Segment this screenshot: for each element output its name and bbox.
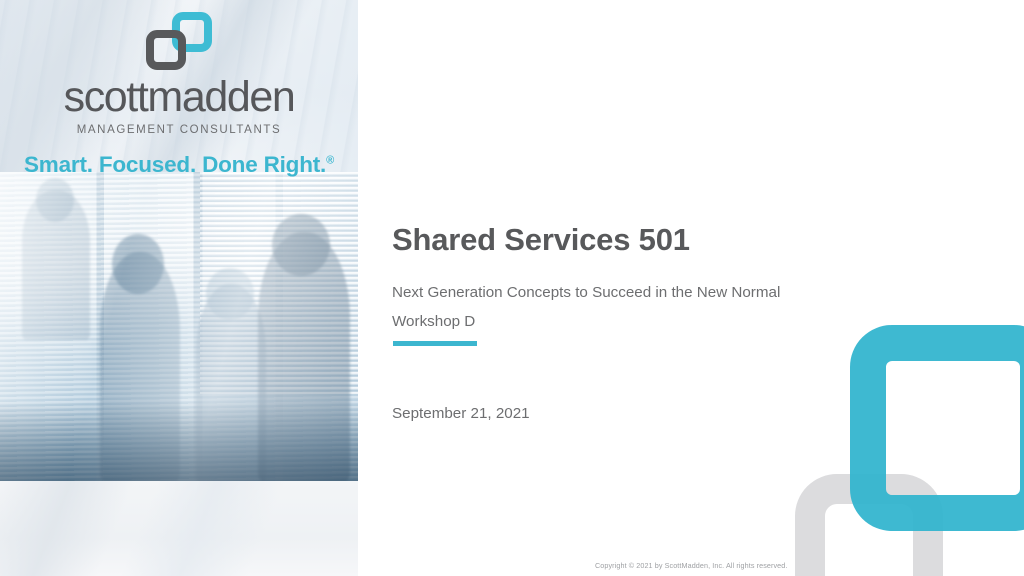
- logo-tagline: Smart. Focused. Done Right.®: [0, 152, 358, 178]
- panel-lower-wash: [0, 481, 358, 576]
- slide-date: September 21, 2021: [392, 405, 530, 422]
- teal-accent-bar: [393, 341, 477, 346]
- left-brand-panel: scottmadden MANAGEMENT CONSULTANTS Smart…: [0, 0, 358, 576]
- slide-content: Shared Services 501 Next Generation Conc…: [392, 0, 992, 576]
- photo-bottom-shadow: [0, 401, 358, 481]
- logo-tagline-text: Smart. Focused. Done Right.: [24, 152, 326, 177]
- logo-descriptor: MANAGEMENT CONSULTANTS: [0, 124, 358, 136]
- overlapping-rounded-squares-icon: [142, 12, 216, 72]
- logo-wordmark: scottmadden: [0, 76, 358, 119]
- title-slide: scottmadden MANAGEMENT CONSULTANTS Smart…: [0, 0, 1024, 576]
- copyright-notice: Copyright © 2021 by ScottMadden, Inc. Al…: [595, 561, 787, 570]
- logo-square-dark-icon: [146, 30, 186, 70]
- scottmadden-logo: scottmadden MANAGEMENT CONSULTANTS Smart…: [0, 12, 358, 178]
- office-people-silhouette-photo: [0, 172, 358, 481]
- slide-subtitle-line-2: Workshop D: [392, 313, 475, 330]
- page-title: Shared Services 501: [392, 222, 690, 258]
- registered-trademark-icon: ®: [326, 155, 334, 167]
- slide-subtitle-line-1: Next Generation Concepts to Succeed in t…: [392, 284, 780, 301]
